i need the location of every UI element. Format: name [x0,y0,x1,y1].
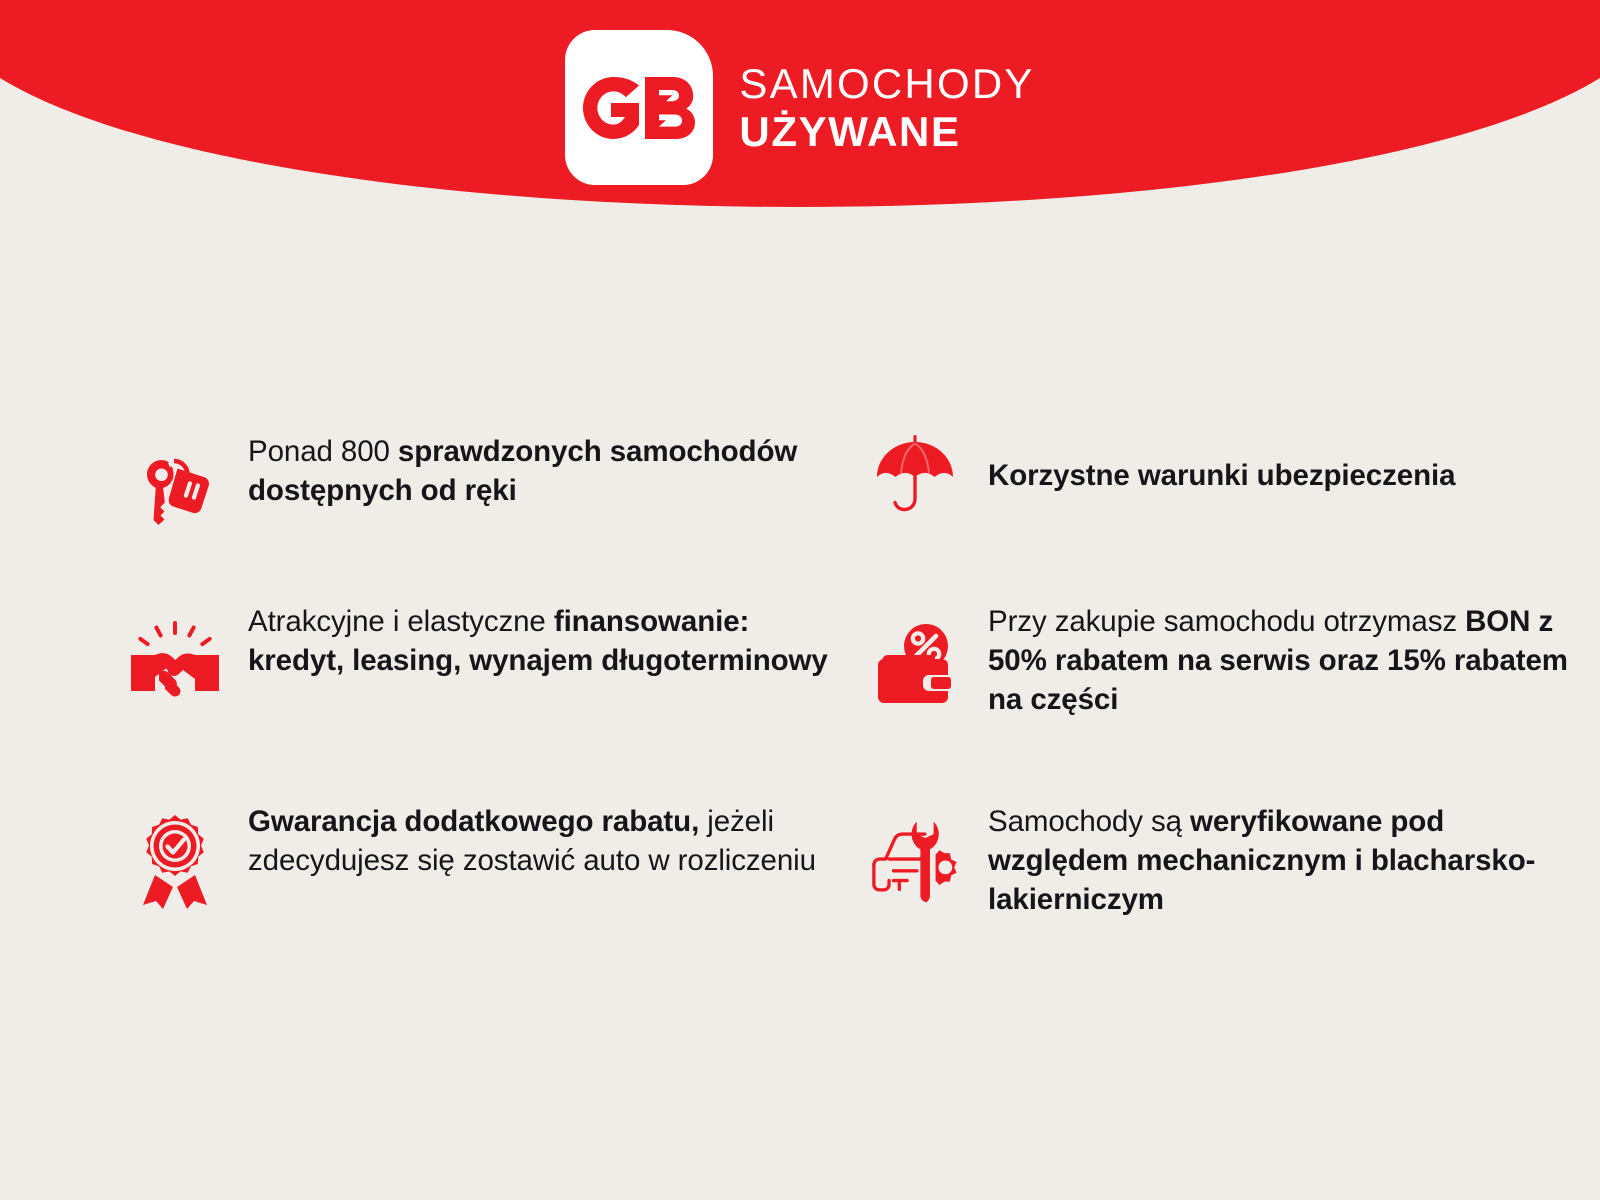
gb-logo-mark [565,30,713,185]
benefit-lead: Atrakcyjne i elastyczne [248,605,554,638]
benefit-text-discount-voucher: Przy zakupie samochodu otrzymasz BON z 5… [988,600,1588,720]
umbrella-icon [868,426,962,520]
benefit-strong: Gwarancja dodatkowego rabatu, [248,805,699,838]
brand-logo[interactable]: SAMOCHODY UŻYWANE [565,30,1034,185]
gb-monogram-icon [583,77,695,139]
handshake-icon [128,618,222,712]
car-wrench-gear-icon [868,814,962,908]
benefit-item-available-cars: Ponad 800 sprawdzonych samochodów dostęp… [128,430,848,600]
benefit-text-verification: Samochody są weryfikowane pod względem m… [988,800,1588,920]
brand-line-samochody: SAMOCHODY [739,63,1034,105]
benefit-lead: Przy zakupie samochodu otrzymasz [988,605,1465,638]
benefit-item-financing: Atrakcyjne i elastyczne finansowanie: kr… [128,600,848,800]
benefit-text-trade-in-discount: Gwarancja dodatkowego rabatu, jeżeli zde… [248,800,828,880]
benefit-strong: Korzystne warunki ubezpieczenia [988,459,1455,492]
benefit-lead: Samochody są [988,805,1190,838]
infographic-page: SAMOCHODY UŻYWANE [0,0,1600,1200]
benefits-grid: Ponad 800 sprawdzonych samochodów dostęp… [0,430,1600,920]
benefit-text-financing: Atrakcyjne i elastyczne finansowanie: kr… [248,600,828,680]
benefit-text-insurance: Korzystne warunki ubezpieczenia [988,430,1455,495]
benefit-item-discount-voucher: Przy zakupie samochodu otrzymasz BON z 5… [848,600,1588,800]
car-key-icon [128,444,222,538]
benefit-item-verification: Samochody są weryfikowane pod względem m… [848,800,1588,920]
brand-wordmark: SAMOCHODY UŻYWANE [739,63,1034,153]
benefit-lead: Ponad 800 [248,435,398,468]
rosette-check-icon [128,814,222,908]
logo-lockup-container: SAMOCHODY UŻYWANE [0,0,1600,240]
benefit-item-trade-in-discount: Gwarancja dodatkowego rabatu, jeżeli zde… [128,800,848,920]
brand-line-uzywane: UŻYWANE [739,111,1034,153]
wallet-percent-icon [868,618,962,712]
header-banner: SAMOCHODY UŻYWANE [0,0,1600,260]
benefit-text-available-cars: Ponad 800 sprawdzonych samochodów dostęp… [248,430,828,510]
benefit-item-insurance: Korzystne warunki ubezpieczenia [848,430,1588,600]
